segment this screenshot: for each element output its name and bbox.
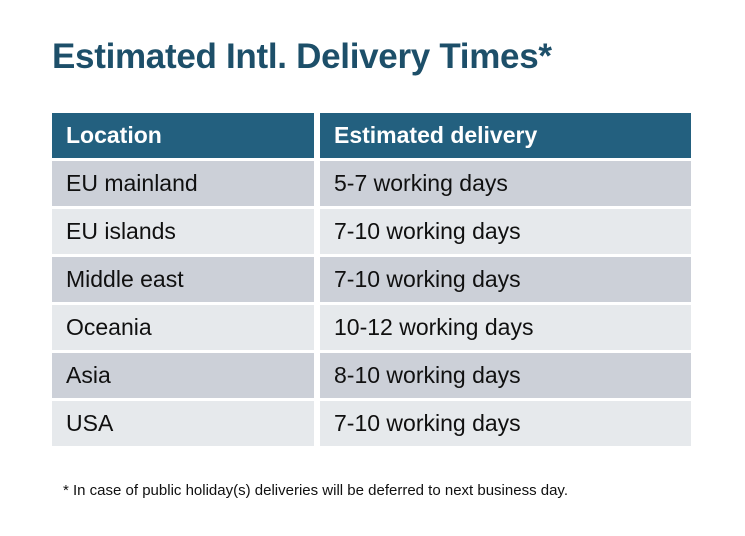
footnote-text: * In case of public holiday(s) deliverie… xyxy=(63,481,568,501)
table-row: Middle east 7-10 working days xyxy=(52,257,691,302)
cell-estimated-delivery: 7-10 working days xyxy=(320,209,691,254)
cell-estimated-delivery: 8-10 working days xyxy=(320,353,691,398)
cell-location: EU islands xyxy=(52,209,314,254)
delivery-times-page: Estimated Intl. Delivery Times* Location… xyxy=(0,0,745,536)
cell-location: EU mainland xyxy=(52,161,314,206)
cell-location: Middle east xyxy=(52,257,314,302)
cell-location: USA xyxy=(52,401,314,446)
table-row: EU mainland 5-7 working days xyxy=(52,161,691,206)
cell-estimated-delivery: 5-7 working days xyxy=(320,161,691,206)
table-row: EU islands 7-10 working days xyxy=(52,209,691,254)
cell-estimated-delivery: 7-10 working days xyxy=(320,401,691,446)
column-header-estimated-delivery: Estimated delivery xyxy=(320,113,691,158)
column-header-location: Location xyxy=(52,113,314,158)
table-row: USA 7-10 working days xyxy=(52,401,691,446)
cell-location: Oceania xyxy=(52,305,314,350)
cell-estimated-delivery: 7-10 working days xyxy=(320,257,691,302)
cell-estimated-delivery: 10-12 working days xyxy=(320,305,691,350)
cell-location: Asia xyxy=(52,353,314,398)
table-row: Asia 8-10 working days xyxy=(52,353,691,398)
page-title: Estimated Intl. Delivery Times* xyxy=(52,36,552,78)
table-header-row: Location Estimated delivery xyxy=(52,113,691,158)
delivery-times-table: Location Estimated delivery EU mainland … xyxy=(52,113,691,446)
table-row: Oceania 10-12 working days xyxy=(52,305,691,350)
